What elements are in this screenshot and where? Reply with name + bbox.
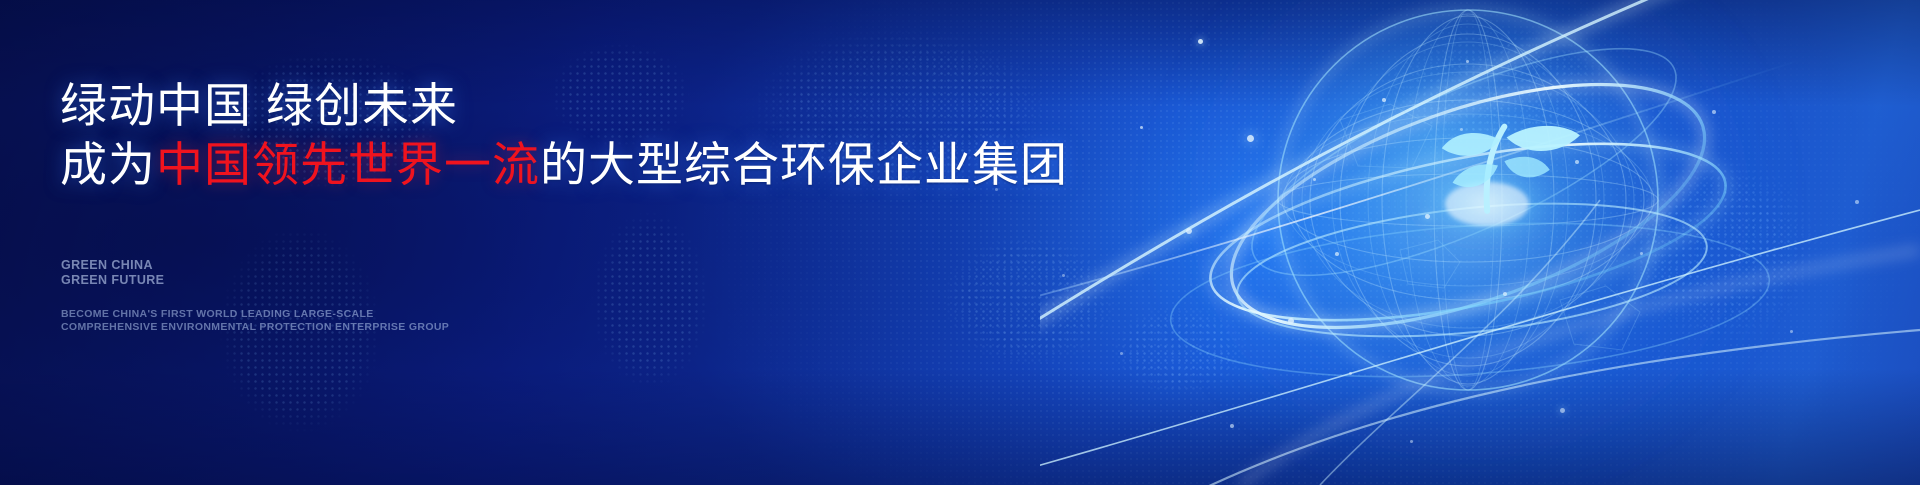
banner-copy: 绿动中国 绿创未来 成为中国领先世界一流的大型综合环保企业集团 GREEN CH… [60, 0, 1100, 485]
headline: 绿动中国 绿创未来 成为中国领先世界一流的大型综合环保企业集团 [60, 78, 1068, 193]
hero-banner: 绿动中国 绿创未来 成为中国领先世界一流的大型综合环保企业集团 GREEN CH… [0, 0, 1920, 485]
english-subtitle: BECOME CHINA'S FIRST WORLD LEADING LARGE… [61, 308, 449, 334]
english-tagline-line-2: GREEN FUTURE [61, 273, 164, 288]
headline-line-2-highlight: 中国领先世界一流 [156, 138, 540, 191]
headline-line-2-suffix: 的大型综合环保企业集团 [540, 138, 1068, 191]
globe-artwork [1040, 0, 1920, 485]
english-subtitle-line-2: COMPREHENSIVE ENVIRONMENTAL PROTECTION E… [61, 321, 449, 334]
english-tagline: GREEN CHINA GREEN FUTURE [61, 258, 164, 288]
english-subtitle-line-1: BECOME CHINA'S FIRST WORLD LEADING LARGE… [61, 308, 449, 321]
headline-line-2: 成为中国领先世界一流的大型综合环保企业集团 [60, 137, 1068, 193]
headline-line-2-prefix: 成为 [60, 138, 156, 191]
english-tagline-line-1: GREEN CHINA [61, 258, 164, 273]
globe-svg [1040, 0, 1920, 485]
headline-line-1: 绿动中国 绿创未来 [60, 79, 458, 132]
